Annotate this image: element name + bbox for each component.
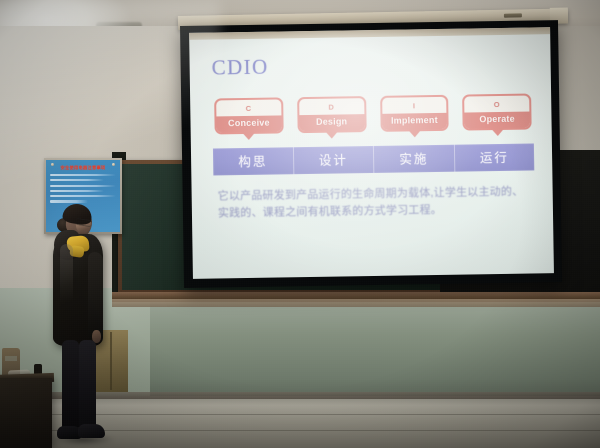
poster-line [50, 190, 104, 192]
poster-line [50, 174, 116, 176]
presenter-arm [88, 252, 103, 340]
callout-box: D Design [297, 96, 366, 133]
callout-box: O Operate [462, 93, 531, 130]
callout-label: Implement [382, 112, 447, 129]
callout-label: Design [299, 114, 364, 131]
callout-letter: I [382, 97, 447, 114]
callout-letter: D [299, 98, 364, 115]
slide-content: CDIO C Conceive D Design [189, 34, 554, 279]
chalk-ledge-top [112, 299, 600, 307]
translation-cell: 实施 [374, 144, 455, 172]
callout-pointer-icon [242, 131, 256, 139]
projection-screen-surface: CDIO C Conceive D Design [189, 27, 554, 279]
callout-letter: O [464, 96, 529, 113]
callout-letter: C [216, 99, 281, 116]
callout-pointer-icon [325, 130, 339, 138]
callout-pointer-icon [408, 129, 422, 137]
callout-implement: I Implement [380, 95, 449, 132]
callout-design: D Design [297, 96, 366, 133]
cdio-callout-row: C Conceive D Design I [212, 93, 534, 134]
poster-line [50, 179, 104, 181]
poster-title: 安全使用电器注意事项 [46, 165, 120, 171]
projection-screen: CDIO C Conceive D Design [180, 20, 562, 288]
presenter-leg-right [79, 340, 96, 430]
chinese-translation-bar: 构思 设计 实施 运行 [213, 143, 534, 175]
slide-body-text: 它以产品研发到产品运行的生命周期为载体,让学生以主动的、实践的、课程之间有机联系… [214, 183, 535, 222]
poster-line [50, 185, 116, 187]
callout-operate: O Operate [462, 93, 531, 130]
callout-box: I Implement [380, 95, 449, 132]
callout-box: C Conceive [214, 97, 283, 134]
callout-label: Operate [465, 111, 530, 128]
housing-vent [504, 13, 522, 17]
lectern-desk [0, 378, 52, 448]
presenter [48, 200, 128, 448]
callout-pointer-icon [490, 127, 504, 135]
poster-line [50, 195, 116, 197]
translation-cell: 构思 [213, 147, 294, 175]
translation-cell: 设计 [293, 145, 374, 173]
slide-title: CDIO [211, 50, 532, 80]
callout-conceive: C Conceive [214, 97, 283, 134]
presenter-leg-left [62, 340, 79, 430]
presenter-coat-highlight [60, 244, 73, 316]
callout-label: Conceive [216, 115, 281, 132]
chair-back-slot [5, 356, 17, 361]
classroom-photo: 安全使用电器注意事项 CDIO C [0, 0, 600, 448]
translation-cell: 运行 [454, 143, 534, 171]
presenter-shoe-right [78, 424, 105, 438]
poster-body [50, 174, 116, 203]
